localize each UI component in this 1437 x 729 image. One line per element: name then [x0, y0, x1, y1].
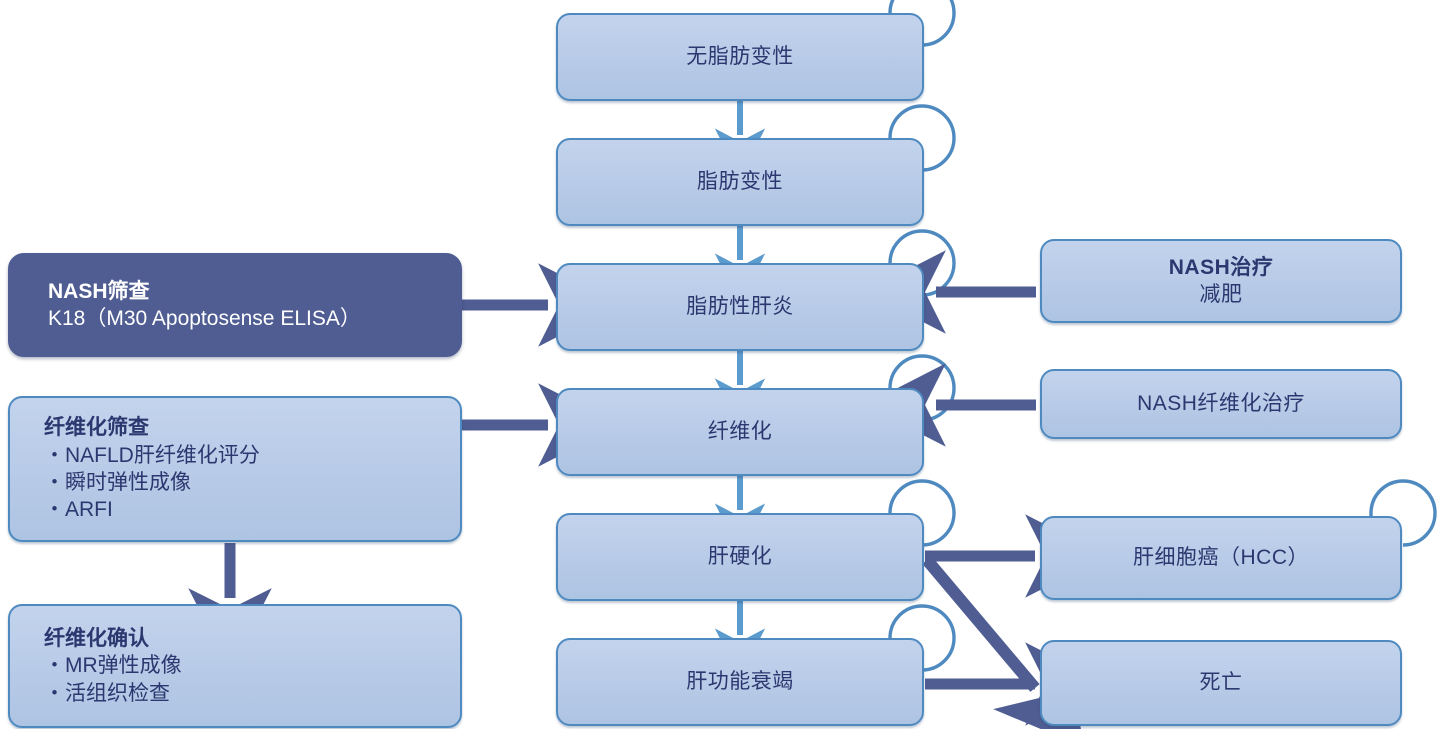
node-liver-failure[interactable]: 肝功能衰竭 [556, 638, 924, 726]
liver-failure-label: 肝功能衰竭 [686, 668, 794, 695]
hcc-label: 肝细胞癌（HCC） [1133, 544, 1309, 571]
node-steatosis[interactable]: 脂肪变性 [556, 138, 924, 226]
fibrosis-screening-title: 纤维化筛查 [10, 414, 149, 441]
node-fibrosis-confirmation[interactable]: 纤维化确认 ・MR弹性成像 ・活组织检查 [8, 604, 462, 728]
steatohepatitis-label: 脂肪性肝炎 [686, 293, 794, 320]
steatosis-label: 脂肪变性 [697, 168, 783, 195]
node-steatohepatitis[interactable]: 脂肪性肝炎 [556, 263, 924, 351]
diagram-canvas: NASH筛查 K18（M30 Apoptosense ELISA） 纤维化筛查 … [0, 0, 1437, 729]
fibrosis-screening-item-2: ・ARFI [10, 496, 113, 523]
node-nash-screening[interactable]: NASH筛查 K18（M30 Apoptosense ELISA） [8, 253, 462, 357]
node-no-steatosis[interactable]: 无脂肪变性 [556, 13, 924, 101]
nash-screening-body: K18（M30 Apoptosense ELISA） [10, 305, 361, 332]
nash-fibrosis-treatment-label: NASH纤维化治疗 [1137, 390, 1305, 417]
death-label: 死亡 [1200, 669, 1243, 696]
fibrosis-confirmation-item-0: ・MR弹性成像 [10, 652, 182, 679]
node-death[interactable]: 死亡 [1040, 640, 1402, 726]
node-cirrhosis[interactable]: 肝硬化 [556, 513, 924, 601]
node-nash-treatment[interactable]: NASH治疗 减肥 [1040, 239, 1402, 323]
nash-treatment-body: 减肥 [1200, 281, 1243, 308]
node-hcc[interactable]: 肝细胞癌（HCC） [1040, 516, 1402, 600]
no-steatosis-label: 无脂肪变性 [686, 43, 794, 70]
node-fibrosis-screening[interactable]: 纤维化筛查 ・NAFLD肝纤维化评分 ・瞬时弹性成像 ・ARFI [8, 396, 462, 542]
cirrhosis-label: 肝硬化 [708, 543, 773, 570]
fibrosis-confirmation-item-1: ・活组织检查 [10, 680, 170, 707]
fibrosis-screening-item-0: ・NAFLD肝纤维化评分 [10, 442, 260, 469]
fibrosis-label: 纤维化 [708, 418, 773, 445]
nash-treatment-title: NASH治疗 [1169, 254, 1274, 281]
fibrosis-confirmation-title: 纤维化确认 [10, 625, 149, 652]
nash-screening-title: NASH筛查 [10, 278, 150, 305]
node-nash-fibrosis-treatment[interactable]: NASH纤维化治疗 [1040, 369, 1402, 439]
arrow-cirrhosis-to-death [927, 560, 1035, 688]
fibrosis-screening-item-1: ・瞬时弹性成像 [10, 469, 191, 496]
node-fibrosis[interactable]: 纤维化 [556, 388, 924, 476]
